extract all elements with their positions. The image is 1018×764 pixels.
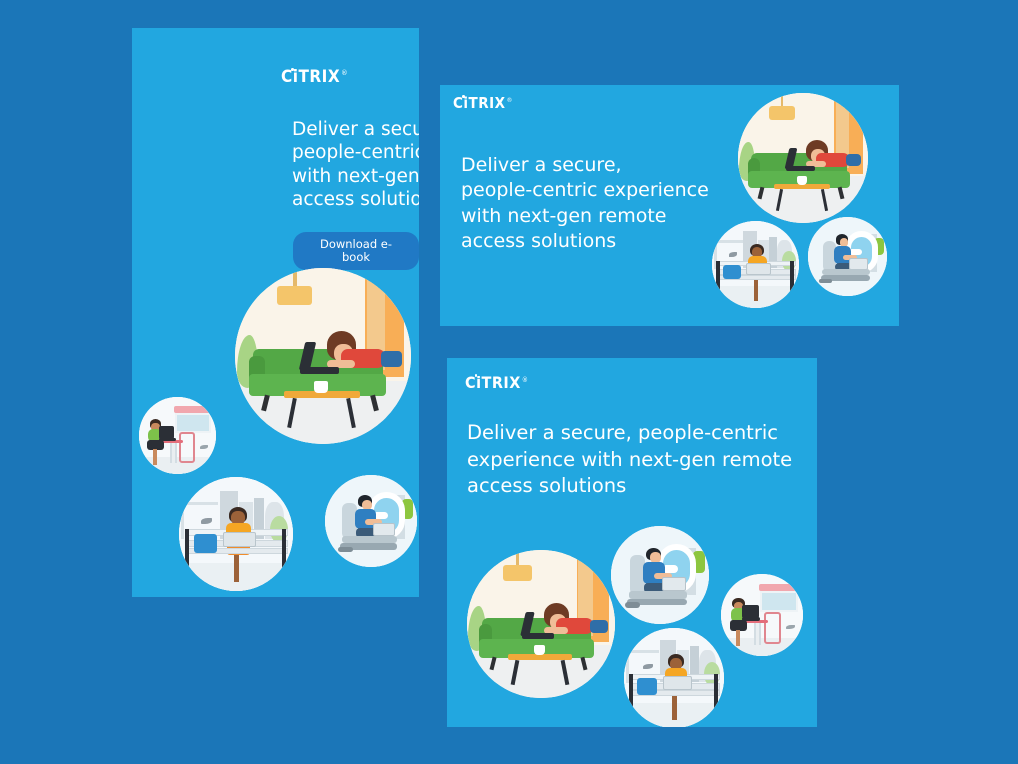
illustration-bubble-park-bench bbox=[179, 477, 293, 591]
citrix-wordmark-text: CiTRIX bbox=[281, 67, 340, 87]
ad-creative-vertical-banner[interactable]: CiTRIX® Deliver a secure, people-centric… bbox=[132, 28, 419, 597]
citrix-logo: CiTRIX® bbox=[465, 375, 528, 391]
illustration-bubble-airplane bbox=[808, 217, 887, 296]
illustration-bubble-sofa bbox=[467, 550, 615, 698]
ad-creative-square-banner[interactable]: CiTRIX® Deliver a secure, people-centric… bbox=[447, 358, 817, 727]
registered-trademark-icon: ® bbox=[507, 97, 513, 104]
download-ebook-button[interactable]: Download e-book bbox=[293, 232, 419, 270]
registered-trademark-icon: ® bbox=[522, 376, 529, 384]
illustration-bubble-airplane bbox=[325, 475, 417, 567]
citrix-logo: CiTRIX® bbox=[281, 69, 348, 86]
ad-creative-leaderboard-banner[interactable]: CiTRIX® Deliver a secure, people-centric… bbox=[440, 85, 899, 326]
logo-i-dot bbox=[462, 95, 465, 98]
ad-headline: Deliver a secure, people-centric experie… bbox=[461, 153, 731, 254]
ad-headline: Deliver a secure, people-centric experie… bbox=[467, 420, 797, 500]
citrix-wordmark-text: CiTRIX bbox=[453, 94, 506, 112]
design-mockup-canvas: CiTRIX® Deliver a secure, people-centric… bbox=[0, 0, 1018, 764]
illustration-bubble-cafe bbox=[721, 574, 803, 656]
illustration-bubble-park-bench bbox=[712, 221, 799, 308]
illustration-bubble-sofa bbox=[738, 93, 868, 223]
ad-headline: Deliver a secure, people-centric experie… bbox=[292, 118, 419, 211]
illustration-bubble-cafe bbox=[139, 397, 216, 474]
citrix-wordmark-text: CiTRIX bbox=[465, 373, 521, 392]
illustration-bubble-airplane bbox=[611, 526, 709, 624]
illustration-bubble-park-bench bbox=[624, 628, 724, 727]
illustration-bubble-sofa bbox=[235, 268, 411, 444]
citrix-logo: CiTRIX® bbox=[453, 96, 513, 111]
registered-trademark-icon: ® bbox=[341, 68, 348, 77]
